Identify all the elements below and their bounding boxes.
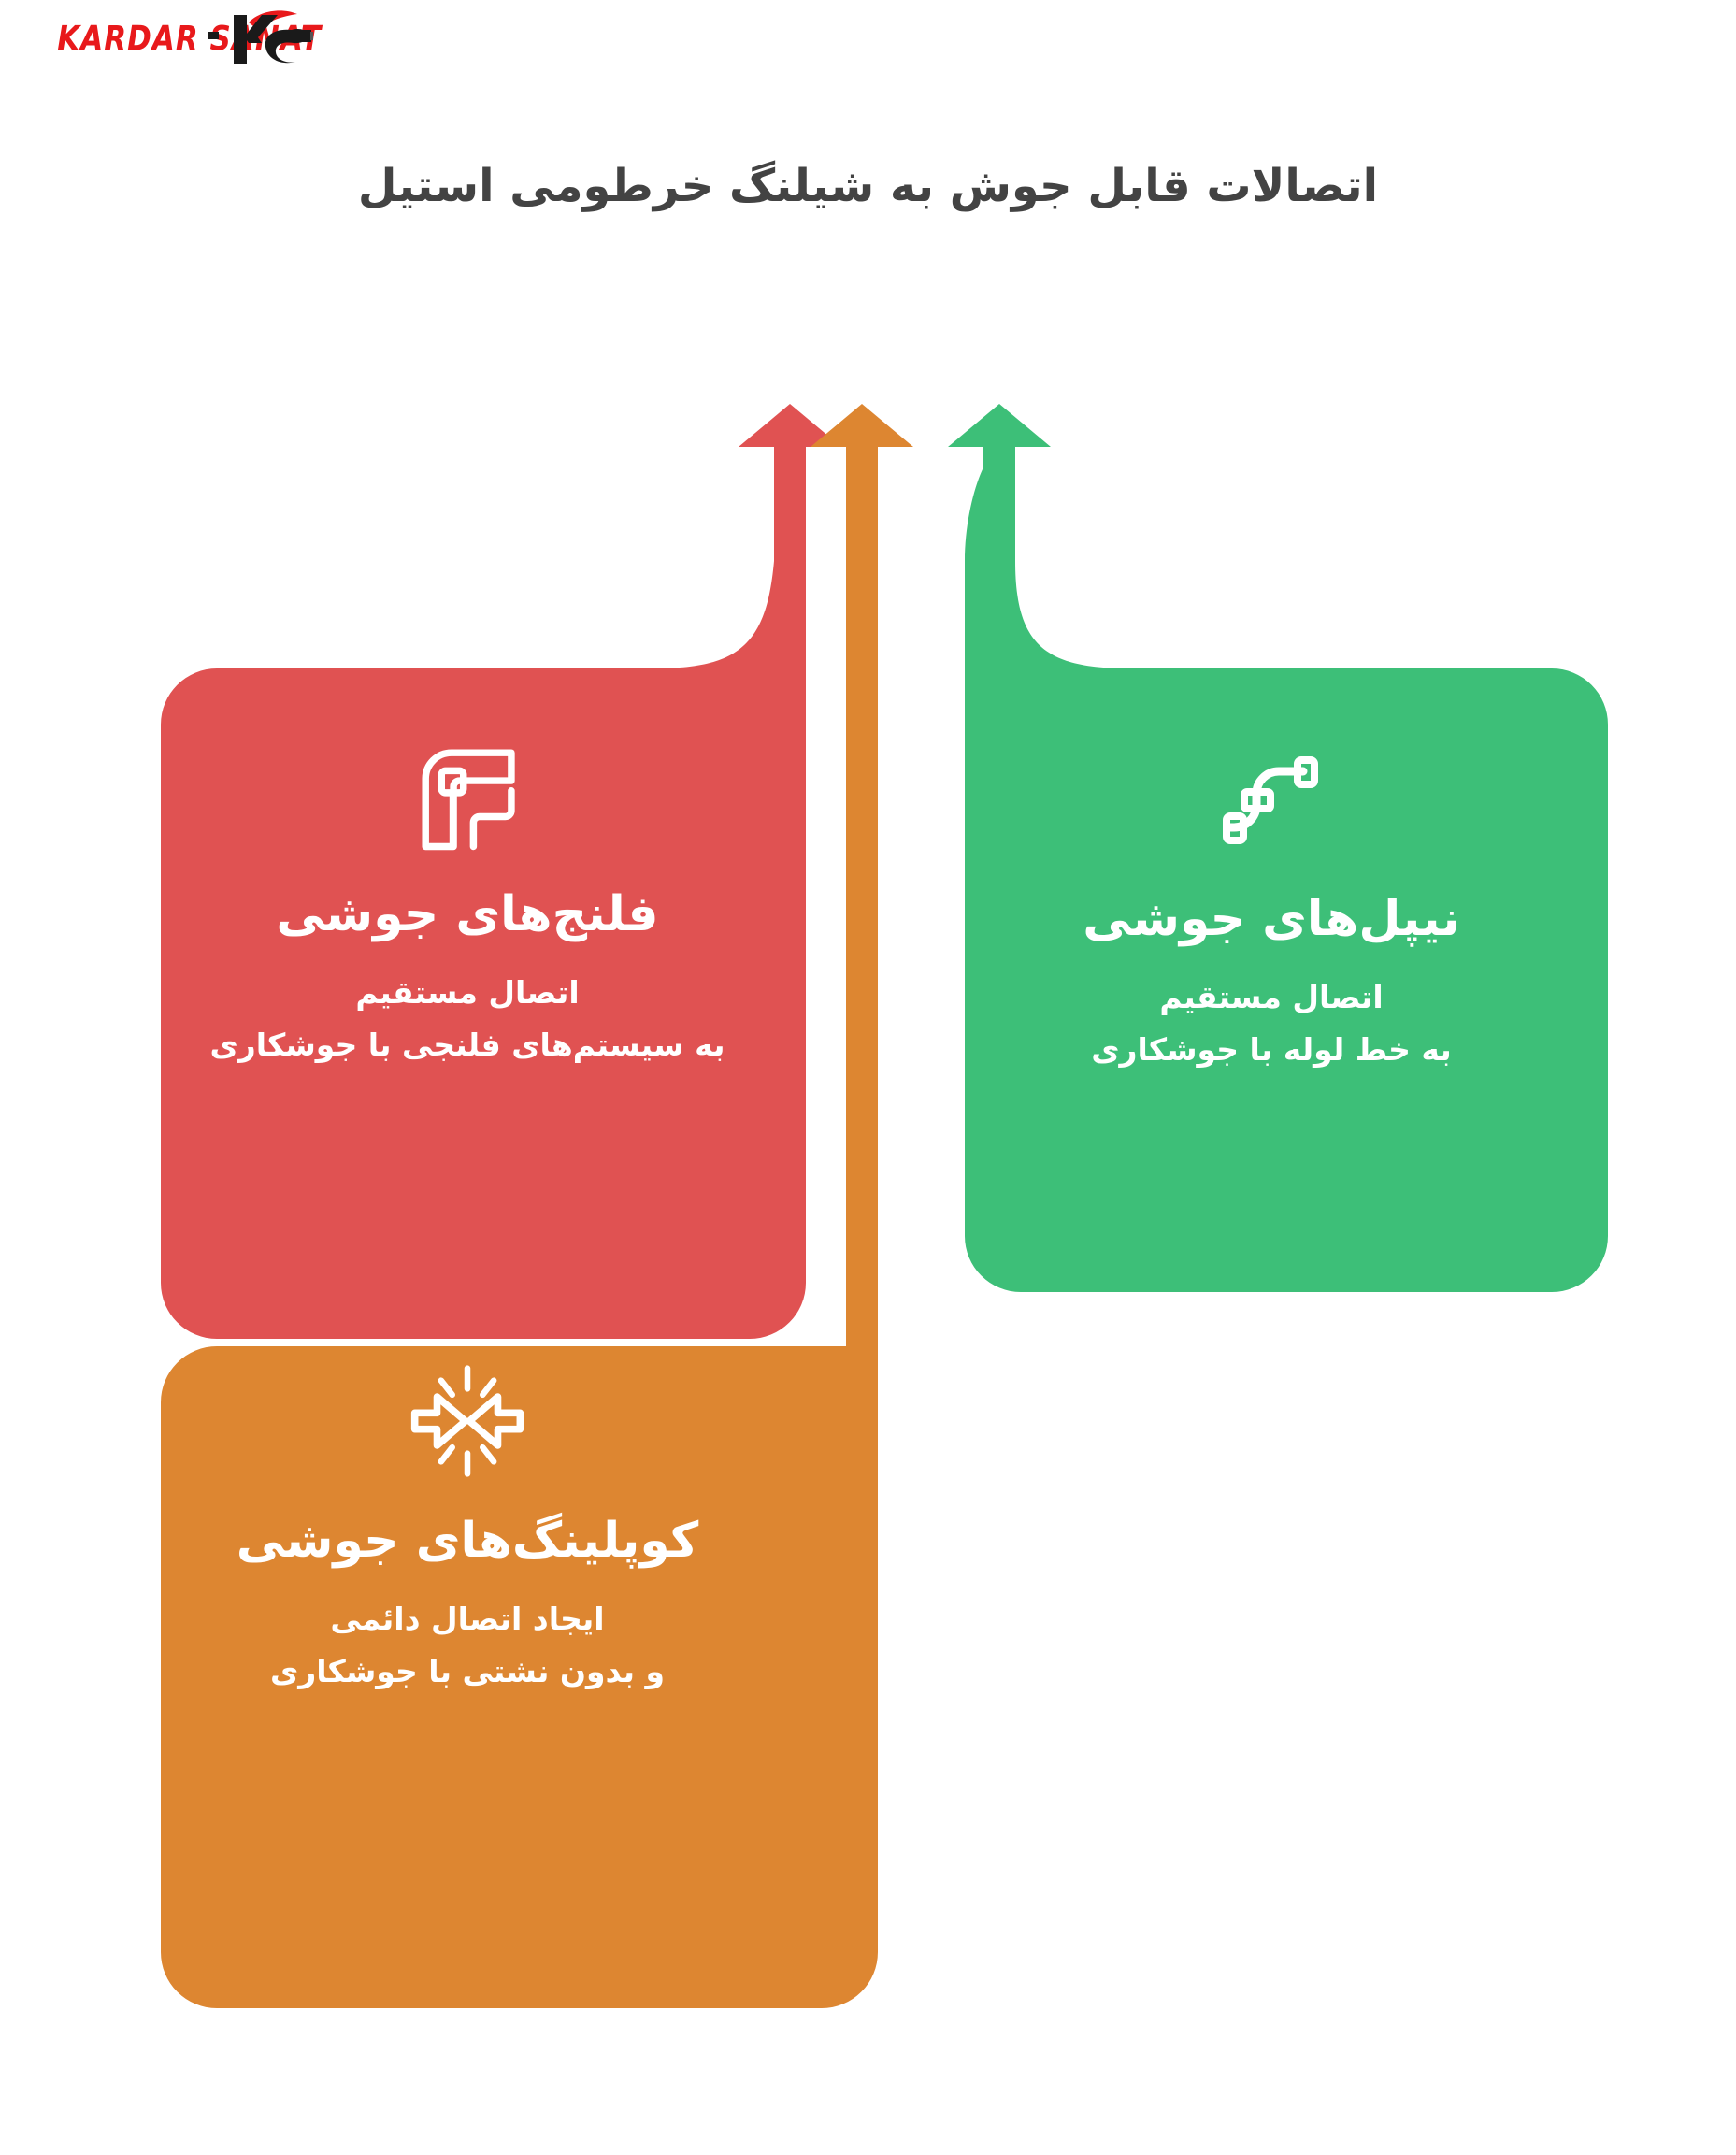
card-nipple-desc-line2: به خط لوله با جوشکاری (1091, 1027, 1452, 1073)
card-flange-desc-line1: اتصال مستقیم (355, 970, 579, 1016)
card-coupling-title: کوپلینگ‌های جوشی (237, 1511, 698, 1572)
brand-logo: KARDAR SANAT (13, 6, 322, 73)
s-bend-pipe-icon (1197, 725, 1346, 874)
ks-monogram-icon (206, 6, 318, 73)
card-flange-title: فلنج‌های جوشی (276, 884, 658, 945)
card-coupling-desc-line2: و بدون نشتی با جوشکاری (270, 1648, 665, 1695)
card-nipple[interactable]: نیپل‌های جوشی اتصال مستقیم به خط لوله با… (944, 725, 1599, 1072)
pipe-elbow-fitting-icon (393, 720, 542, 869)
card-coupling-desc-line1: ایجاد اتصال دائمی (330, 1596, 604, 1643)
weld-join-arrows-icon (393, 1346, 542, 1496)
card-coupling[interactable]: کوپلینگ‌های جوشی ایجاد اتصال دائمی و بدو… (140, 1346, 795, 1694)
orange-card-shape (161, 404, 913, 2008)
card-flange-desc-line2: به سیستم‌های فلنجی با جوشکاری (210, 1022, 725, 1069)
card-nipple-desc-line1: اتصال مستقیم (1159, 974, 1383, 1021)
page-title: اتصالات قابل جوش به شیلنگ خرطومی استیل (0, 157, 1736, 215)
card-nipple-title: نیپل‌های جوشی (1083, 889, 1460, 950)
arrow-flow-graphic (0, 0, 1736, 2155)
orange-flow-group (161, 404, 913, 2008)
infographic-page: KARDAR SANAT اتصالات قابل جوش به شیلنگ خ… (0, 0, 1736, 2155)
card-flange[interactable]: فلنج‌های جوشی اتصال مستقیم به سیستم‌های … (140, 720, 795, 1068)
